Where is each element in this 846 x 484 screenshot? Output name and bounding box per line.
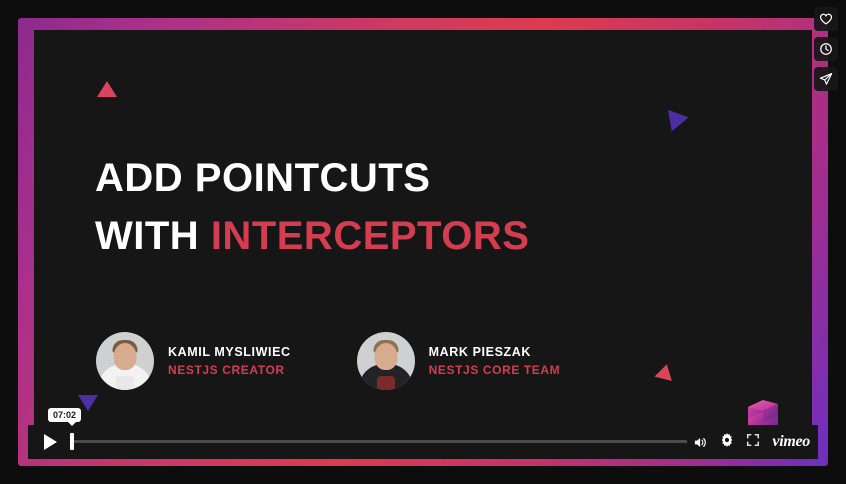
video-player-frame: ADD POINTCUTS WITH INTERCEPTORS KAMIL MY… (0, 0, 846, 484)
progress-scrubber[interactable]: 07:02 (70, 425, 687, 459)
play-icon (44, 434, 57, 450)
avatar (96, 332, 154, 390)
scrubber-handle[interactable] (70, 433, 74, 450)
share-icon (819, 72, 833, 86)
speaker-role: NESTJS CORE TEAM (429, 363, 561, 377)
like-button[interactable] (814, 7, 838, 31)
triangle-red-bottom-right-icon (654, 362, 675, 381)
share-button[interactable] (814, 67, 838, 91)
triangle-purple-right-icon (661, 110, 688, 135)
triangle-red-top-left-icon (97, 81, 117, 97)
clock-icon (819, 42, 833, 56)
fullscreen-icon (746, 433, 760, 452)
volume-button[interactable] (693, 435, 708, 450)
avatar (357, 332, 415, 390)
time-tooltip: 07:02 (48, 408, 81, 422)
title-line-2: WITH INTERCEPTORS (95, 212, 735, 260)
video-slide-content: ADD POINTCUTS WITH INTERCEPTORS KAMIL MY… (34, 30, 812, 454)
player-control-bar: 07:02 (28, 425, 818, 459)
vimeo-logo[interactable]: vimeo (772, 433, 810, 451)
speaker-item: MARK PIESZAK NESTJS CORE TEAM (357, 332, 561, 390)
speaker-name: KAMIL MYSLIWIEC (168, 345, 291, 359)
speaker-role: NESTJS CREATOR (168, 363, 291, 377)
speaker-item: KAMIL MYSLIWIEC NESTJS CREATOR (96, 332, 291, 390)
video-action-buttons (814, 7, 838, 91)
speaker-name: MARK PIESZAK (429, 345, 561, 359)
progress-track (70, 440, 687, 443)
gear-icon (720, 433, 734, 452)
speaker-list: KAMIL MYSLIWIEC NESTJS CREATOR MARK PIES… (96, 332, 560, 390)
slide-title: ADD POINTCUTS WITH INTERCEPTORS (95, 154, 735, 260)
settings-button[interactable] (720, 433, 734, 452)
title-line-1: ADD POINTCUTS (95, 154, 735, 202)
triangle-purple-bottom-left-icon (78, 395, 98, 411)
player-right-controls: vimeo (693, 433, 818, 452)
play-button[interactable] (28, 425, 70, 459)
title-line-2-accent: INTERCEPTORS (211, 214, 530, 258)
fullscreen-button[interactable] (746, 433, 760, 452)
heart-icon (819, 12, 833, 26)
watch-later-button[interactable] (814, 37, 838, 61)
title-line-2-white: WITH (95, 214, 211, 258)
